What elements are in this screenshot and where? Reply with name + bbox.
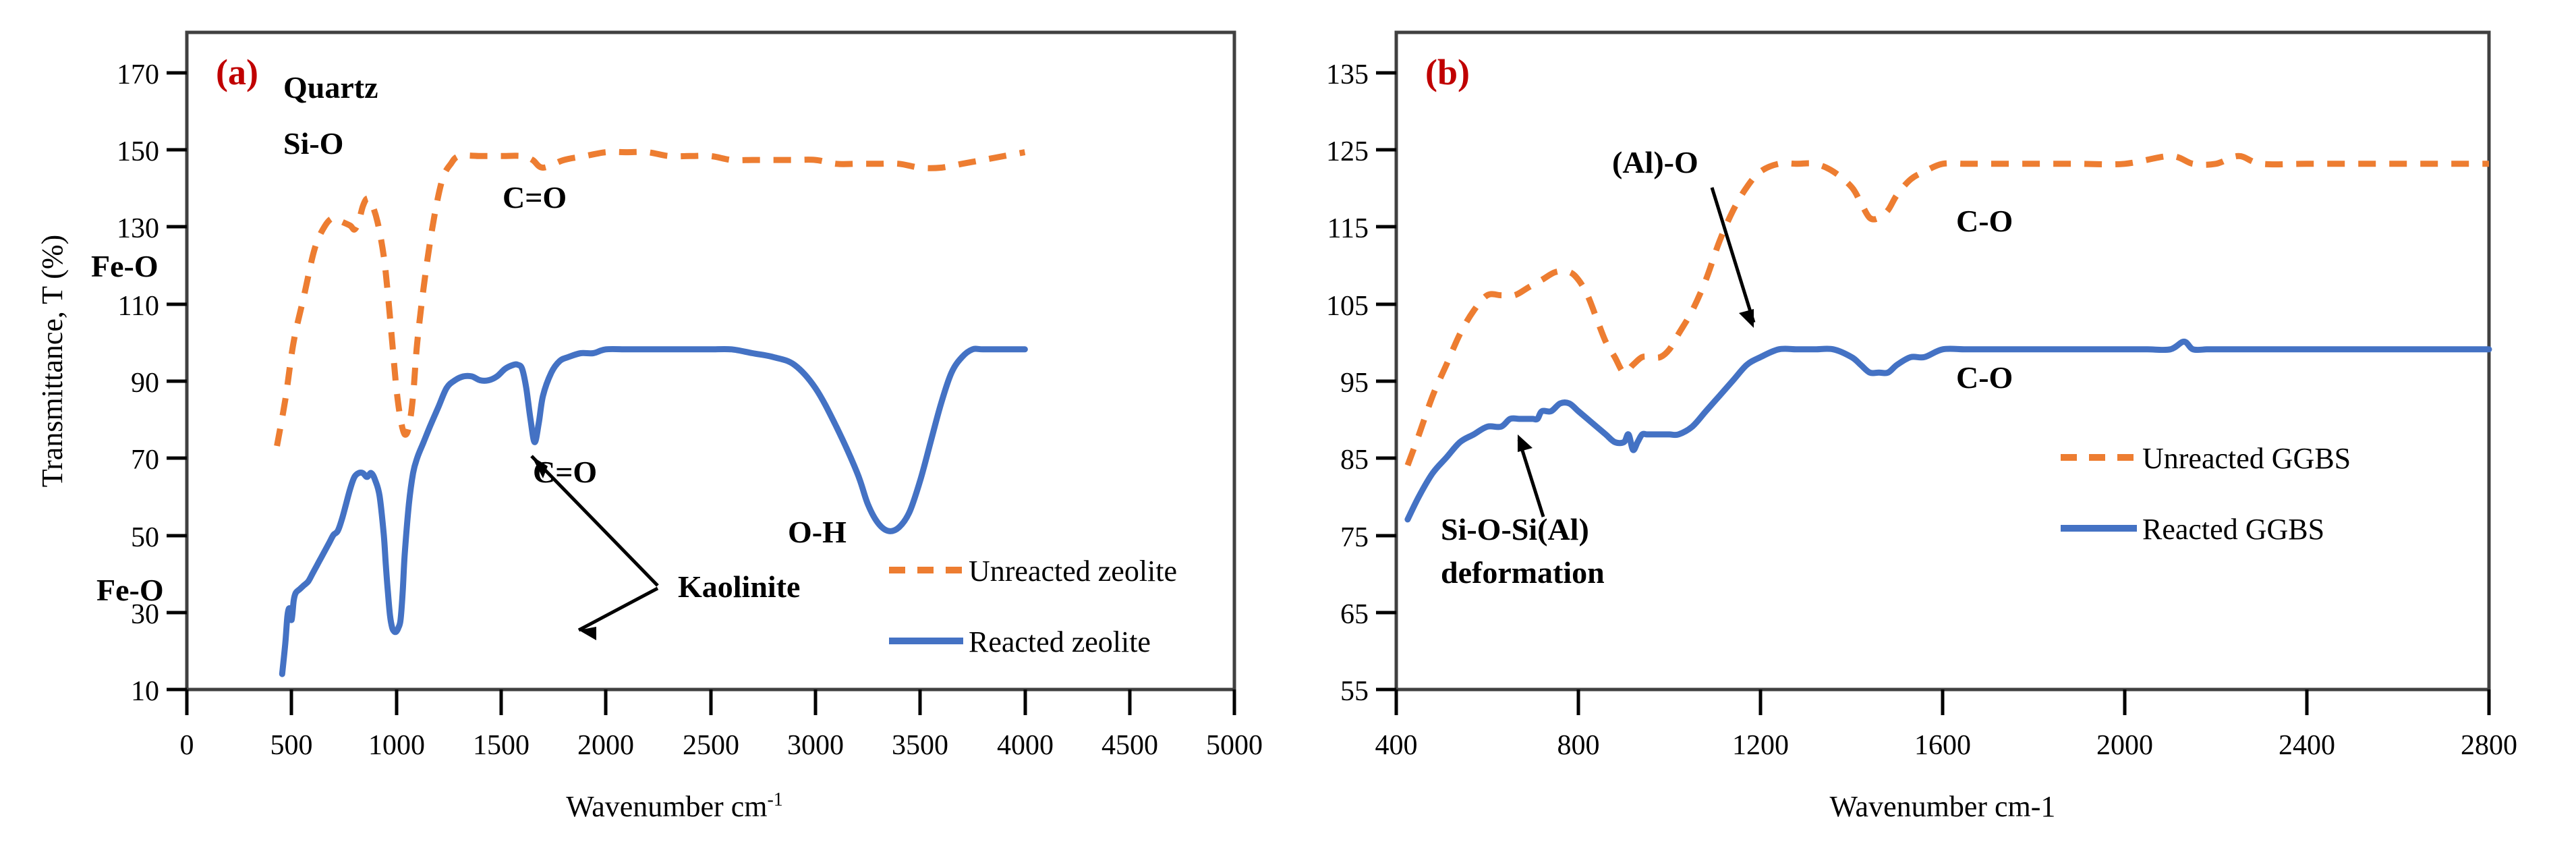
x-ticks-b [1396,690,2489,715]
x-tick-label: 3500 [892,730,948,761]
y-ticks-a [167,73,187,690]
x-tick-label: 2000 [2096,730,2153,761]
x-tick-label: 3000 [787,730,844,761]
y-tick-label: 75 [1340,522,1369,553]
y-tick-label: 115 [1327,213,1369,244]
y-ticks-b [1376,73,1396,690]
x-tick-label: 800 [1557,730,1600,761]
legend-label-reacted-ggbs: Reacted GGBS [2142,513,2324,546]
x-tick-label: 500 [270,730,313,761]
y-tick-label: 105 [1326,291,1369,322]
panel-a: 170 150 130 110 90 70 50 30 10 [0,0,1282,844]
x-axis-title-a: Wavenumber cm-1 [566,789,783,823]
y-tick-label: 65 [1340,599,1369,630]
x-tick-label: 1500 [473,730,529,761]
panel-b-plot: 135 125 115 105 95 85 75 65 55 [1282,0,2576,844]
x-tick-label: 1000 [368,730,425,761]
annotation-c-o-top: C-O [1956,204,2013,238]
y-tick-label: 85 [1340,445,1369,476]
annotation-c-double-o-top: C=O [503,180,567,215]
x-ticks-a [187,690,1234,715]
x-tick-label: 5000 [1206,730,1263,761]
legend-label-unreacted-ggbs: Unreacted GGBS [2142,442,2351,475]
x-tick-label: 2000 [577,730,634,761]
annotation-fe-o-bottom: Fe-O [96,573,164,607]
x-tick-labels-b: 400 800 1200 1600 2000 2400 2800 [1375,730,2518,761]
y-tick-label: 130 [117,213,159,244]
annotation-kaolinite: Kaolinite [678,569,800,604]
x-tick-labels-a: 0 500 1000 1500 2000 2500 3000 3500 4000… [180,730,1263,761]
y-tick-label: 125 [1326,136,1369,167]
x-axis-title-b: Wavenumber cm-1 [1830,790,2056,823]
annotation-al-o: (Al)-O [1612,145,1698,179]
y-tick-label: 150 [117,136,159,167]
annotation-fe-o-top: Fe-O [91,249,159,283]
y-tick-label: 70 [131,445,159,476]
panel-tag-a: (a) [216,52,258,92]
annotation-deformation: deformation [1441,555,1605,590]
ftir-figure: 170 150 130 110 90 70 50 30 10 [0,0,2576,844]
annotation-quartz: Quartz [283,70,378,105]
annotation-o-h: O-H [788,515,847,549]
legend-label-reacted-zeolite: Reacted zeolite [969,625,1151,658]
y-tick-label: 55 [1340,676,1369,707]
panel-b: 135 125 115 105 95 85 75 65 55 [1282,0,2576,844]
y-tick-label: 110 [118,291,159,322]
legend-label-unreacted-zeolite: Unreacted zeolite [969,555,1177,588]
x-tick-label: 4500 [1101,730,1158,761]
x-tick-label: 2400 [2279,730,2335,761]
x-tick-label: 1600 [1914,730,1971,761]
y-tick-label: 90 [131,368,159,399]
annotation-si-o: Si-O [283,126,343,161]
y-tick-labels-b: 135 125 115 105 95 85 75 65 55 [1326,59,1369,707]
y-tick-labels-a: 170 150 130 110 90 70 50 30 10 [117,59,159,707]
annotation-si-o-si-al: Si-O-Si(Al) [1441,512,1589,546]
x-tick-label: 0 [180,730,194,761]
annotation-c-o-bottom: C-O [1956,360,2013,395]
y-tick-label: 95 [1340,368,1369,399]
y-axis-title-a: Transmittance, T (%) [36,235,69,487]
y-tick-label: 50 [131,522,159,553]
x-tick-label: 2500 [683,730,739,761]
y-tick-label: 10 [131,676,159,707]
x-tick-label: 400 [1375,730,1418,761]
y-tick-label: 170 [117,59,159,90]
x-tick-label: 4000 [997,730,1054,761]
x-tick-label: 2800 [2461,730,2517,761]
panel-tag-b: (b) [1425,52,1470,92]
plot-frame-b [1396,32,2489,690]
y-tick-label: 135 [1326,59,1369,90]
x-tick-label: 1200 [1732,730,1789,761]
panel-a-plot: 170 150 130 110 90 70 50 30 10 [0,0,1282,844]
